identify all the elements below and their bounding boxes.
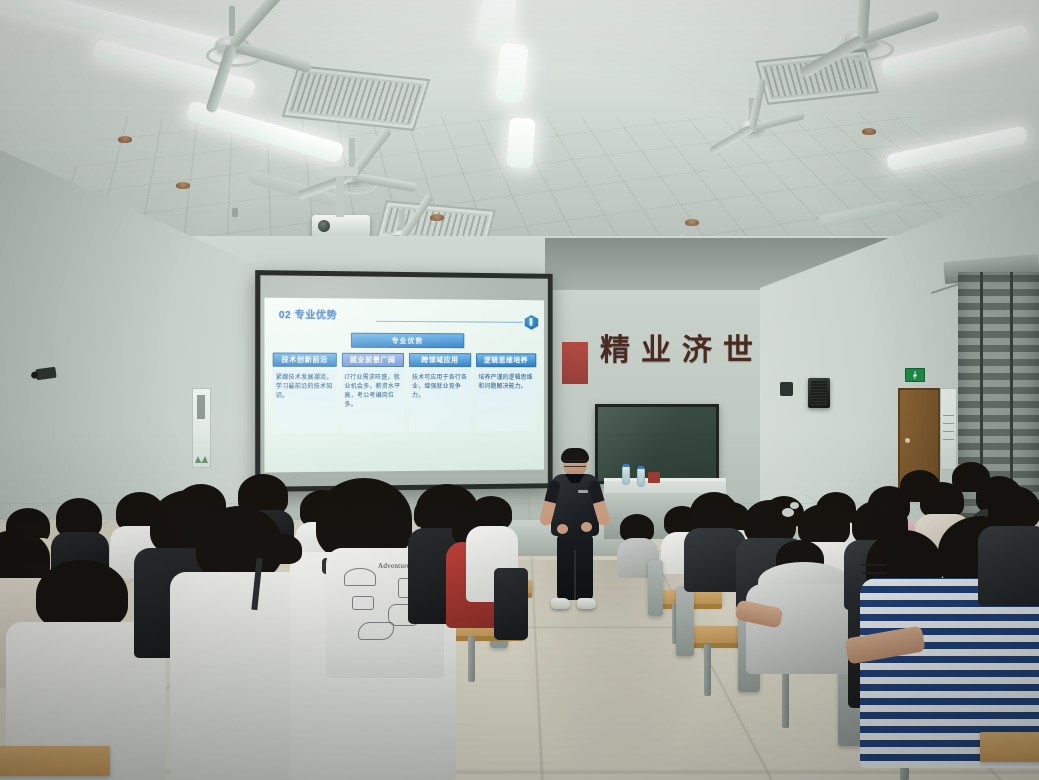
wall-poster-left	[192, 388, 211, 468]
wall-speaker	[808, 378, 830, 408]
smoke-detector-icon	[176, 182, 190, 189]
water-bottle	[622, 466, 630, 485]
desk-leg	[704, 644, 711, 696]
chair-back	[676, 586, 694, 656]
presenter	[543, 450, 605, 620]
presentation-slide: 02 专业优势 专业优势 技术创新前沿 紧跟技术发展潮流，学习最前沿的技术知识。…	[264, 298, 544, 473]
slide-card-body: 培养严谨的逻辑思维和问题解决能力。	[476, 370, 537, 432]
presenter-shoe	[551, 598, 570, 609]
smoke-detector-icon	[685, 219, 699, 226]
presenter-shoe	[577, 598, 596, 609]
slide-card: 跨领域应用 技术可应用于各行各业，增强就业竞争力。	[409, 353, 471, 432]
slide-card-body: 紧跟技术发展潮流，学习最前沿的技术知识。	[273, 370, 337, 433]
smoke-detector-icon	[430, 214, 444, 221]
smoke-detector-icon	[118, 136, 132, 143]
tshirt-graphic-text: Adventure	[378, 562, 410, 570]
slide-card-row: 技术创新前沿 紧跟技术发展潮流，学习最前沿的技术知识。 就业前景广阔 IT行业需…	[273, 353, 537, 433]
slide-card-body: IT行业需求旺盛，就业机会多，薪资水平高，考公考编岗位多。	[341, 370, 404, 432]
shirt-logo	[578, 490, 588, 493]
ceiling-projector	[312, 215, 370, 237]
slide-divider	[376, 321, 523, 323]
student-desk	[980, 732, 1039, 762]
desk-leg	[468, 636, 475, 682]
slide-center-banner: 专业优势	[350, 333, 463, 349]
lecture-hall-photo: 精业济世 02 专业优势 专业优势 技术创新前沿 紧跟技术发展	[0, 0, 1039, 780]
presenter-hand-left	[557, 524, 568, 534]
projection-screen: 02 专业优势 专业优势 技术创新前沿 紧跟技术发展潮流，学习最前沿的技术知识。…	[255, 270, 552, 492]
chair-back	[648, 560, 663, 616]
slide-card-header: 跨领域应用	[409, 353, 471, 367]
presenter-legs	[557, 534, 593, 600]
fluorescent-light	[506, 117, 535, 169]
fluorescent-light	[477, 0, 518, 46]
wall-poster-right	[940, 388, 957, 470]
info-badge-icon	[525, 315, 539, 330]
wall-banner	[562, 342, 588, 384]
wall-calligraphy: 精业济世	[600, 325, 764, 369]
glasses-icon	[564, 460, 586, 467]
water-bottle	[637, 468, 645, 487]
glasses-icon	[862, 564, 886, 574]
slide-card: 就业前景广阔 IT行业需求旺盛，就业机会多，薪资水平高，考公考编岗位多。	[341, 353, 404, 433]
slide-card-header: 技术创新前沿	[273, 353, 337, 367]
wall-junction-box	[780, 382, 793, 396]
desk-item-box	[648, 472, 660, 483]
slide-card-body: 技术可应用于各行各业，增强就业竞争力。	[409, 370, 471, 432]
slide-title: 02 专业优势	[279, 306, 337, 322]
backpack	[494, 568, 528, 640]
emergency-exit-icon	[905, 368, 925, 382]
student-desk	[0, 746, 110, 776]
slide-card: 逻辑思维培养 培养严谨的逻辑思维和问题解决能力。	[476, 353, 537, 431]
presenter-hand-right	[581, 522, 592, 532]
slide-card-header: 逻辑思维培养	[476, 353, 537, 367]
smoke-detector-icon	[862, 128, 876, 135]
sprinkler-icon	[232, 208, 238, 217]
slide-card-header: 就业前景广阔	[341, 353, 404, 367]
slide-card: 技术创新前沿 紧跟技术发展潮流，学习最前沿的技术知识。	[273, 353, 337, 433]
